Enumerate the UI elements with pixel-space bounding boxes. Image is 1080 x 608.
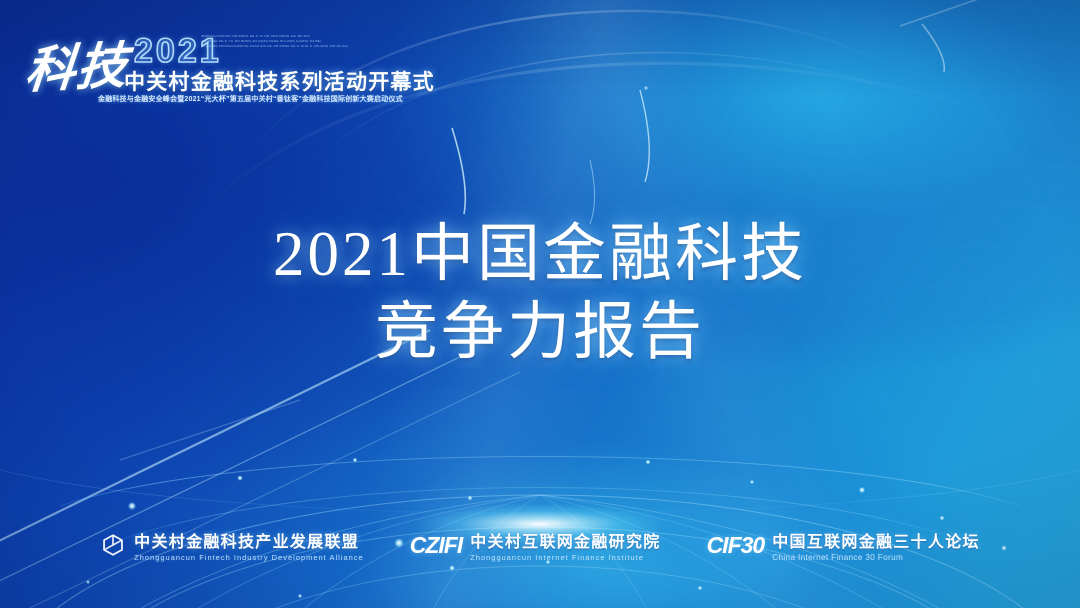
footer-logo-czifi: CZIFI 中关村互联网金融研究院 Zhongguancun Internet … xyxy=(410,528,661,562)
footer-logo-cn-name: 中国互联网金融三十人论坛 xyxy=(772,528,980,552)
event-header-logo: 科技 2021 ZHONGGUANCUN JIN RONG KE JI XI L… xyxy=(26,22,356,108)
poster-stage: 科技 2021 ZHONGGUANCUN JIN RONG KE JI XI L… xyxy=(0,0,1080,608)
header-pinyin-line-1: ZHONGGUANCUN JIN RONG KE JI XI LIE HUO D… xyxy=(201,34,353,39)
footer-logo-en-name: Zhongguancun Internet Finance Institute xyxy=(470,553,660,562)
footer-logo-cn-name: 中关村金融科技产业发展联盟 xyxy=(134,528,364,552)
footer-logo-en-name: Zhongguancun Fintech Industry Developmen… xyxy=(134,553,364,562)
footer-logo-cif30: CIF30 中国互联网金融三十人论坛 China Internet Financ… xyxy=(707,528,980,562)
brush-calligraphy-keji: 科技 xyxy=(23,25,132,102)
header-sub-title: 金融科技与金融安全峰会暨2021“光大杯”第五届中关村“番钛客”金融科技国际创新… xyxy=(98,94,403,104)
footer-logo-row: 中关村金融科技产业发展联盟 Zhongguancun Fintech Indus… xyxy=(0,528,1080,562)
czifi-wordmark: CZIFI xyxy=(410,532,463,559)
footer-logo-alliance: 中关村金融科技产业发展联盟 Zhongguancun Fintech Indus… xyxy=(100,528,364,562)
header-pinyin-line-3: DI WU JIE ZHONGGUANCUN ZUAN SHI KE JIN R… xyxy=(201,44,353,49)
footer-logo-en-name: China Internet Finance 30 Forum xyxy=(772,553,980,562)
header-main-title: 中关村金融科技系列活动开幕式 xyxy=(124,66,435,96)
footer-logo-cn-name: 中关村互联网金融研究院 xyxy=(470,528,660,552)
header-pinyin-line-2: JIN RONG KE JI YU JIN RONG AN QUAN FENG … xyxy=(201,39,353,44)
cif30-wordmark: CIF30 xyxy=(707,532,765,559)
cube-emblem-icon xyxy=(100,532,126,558)
